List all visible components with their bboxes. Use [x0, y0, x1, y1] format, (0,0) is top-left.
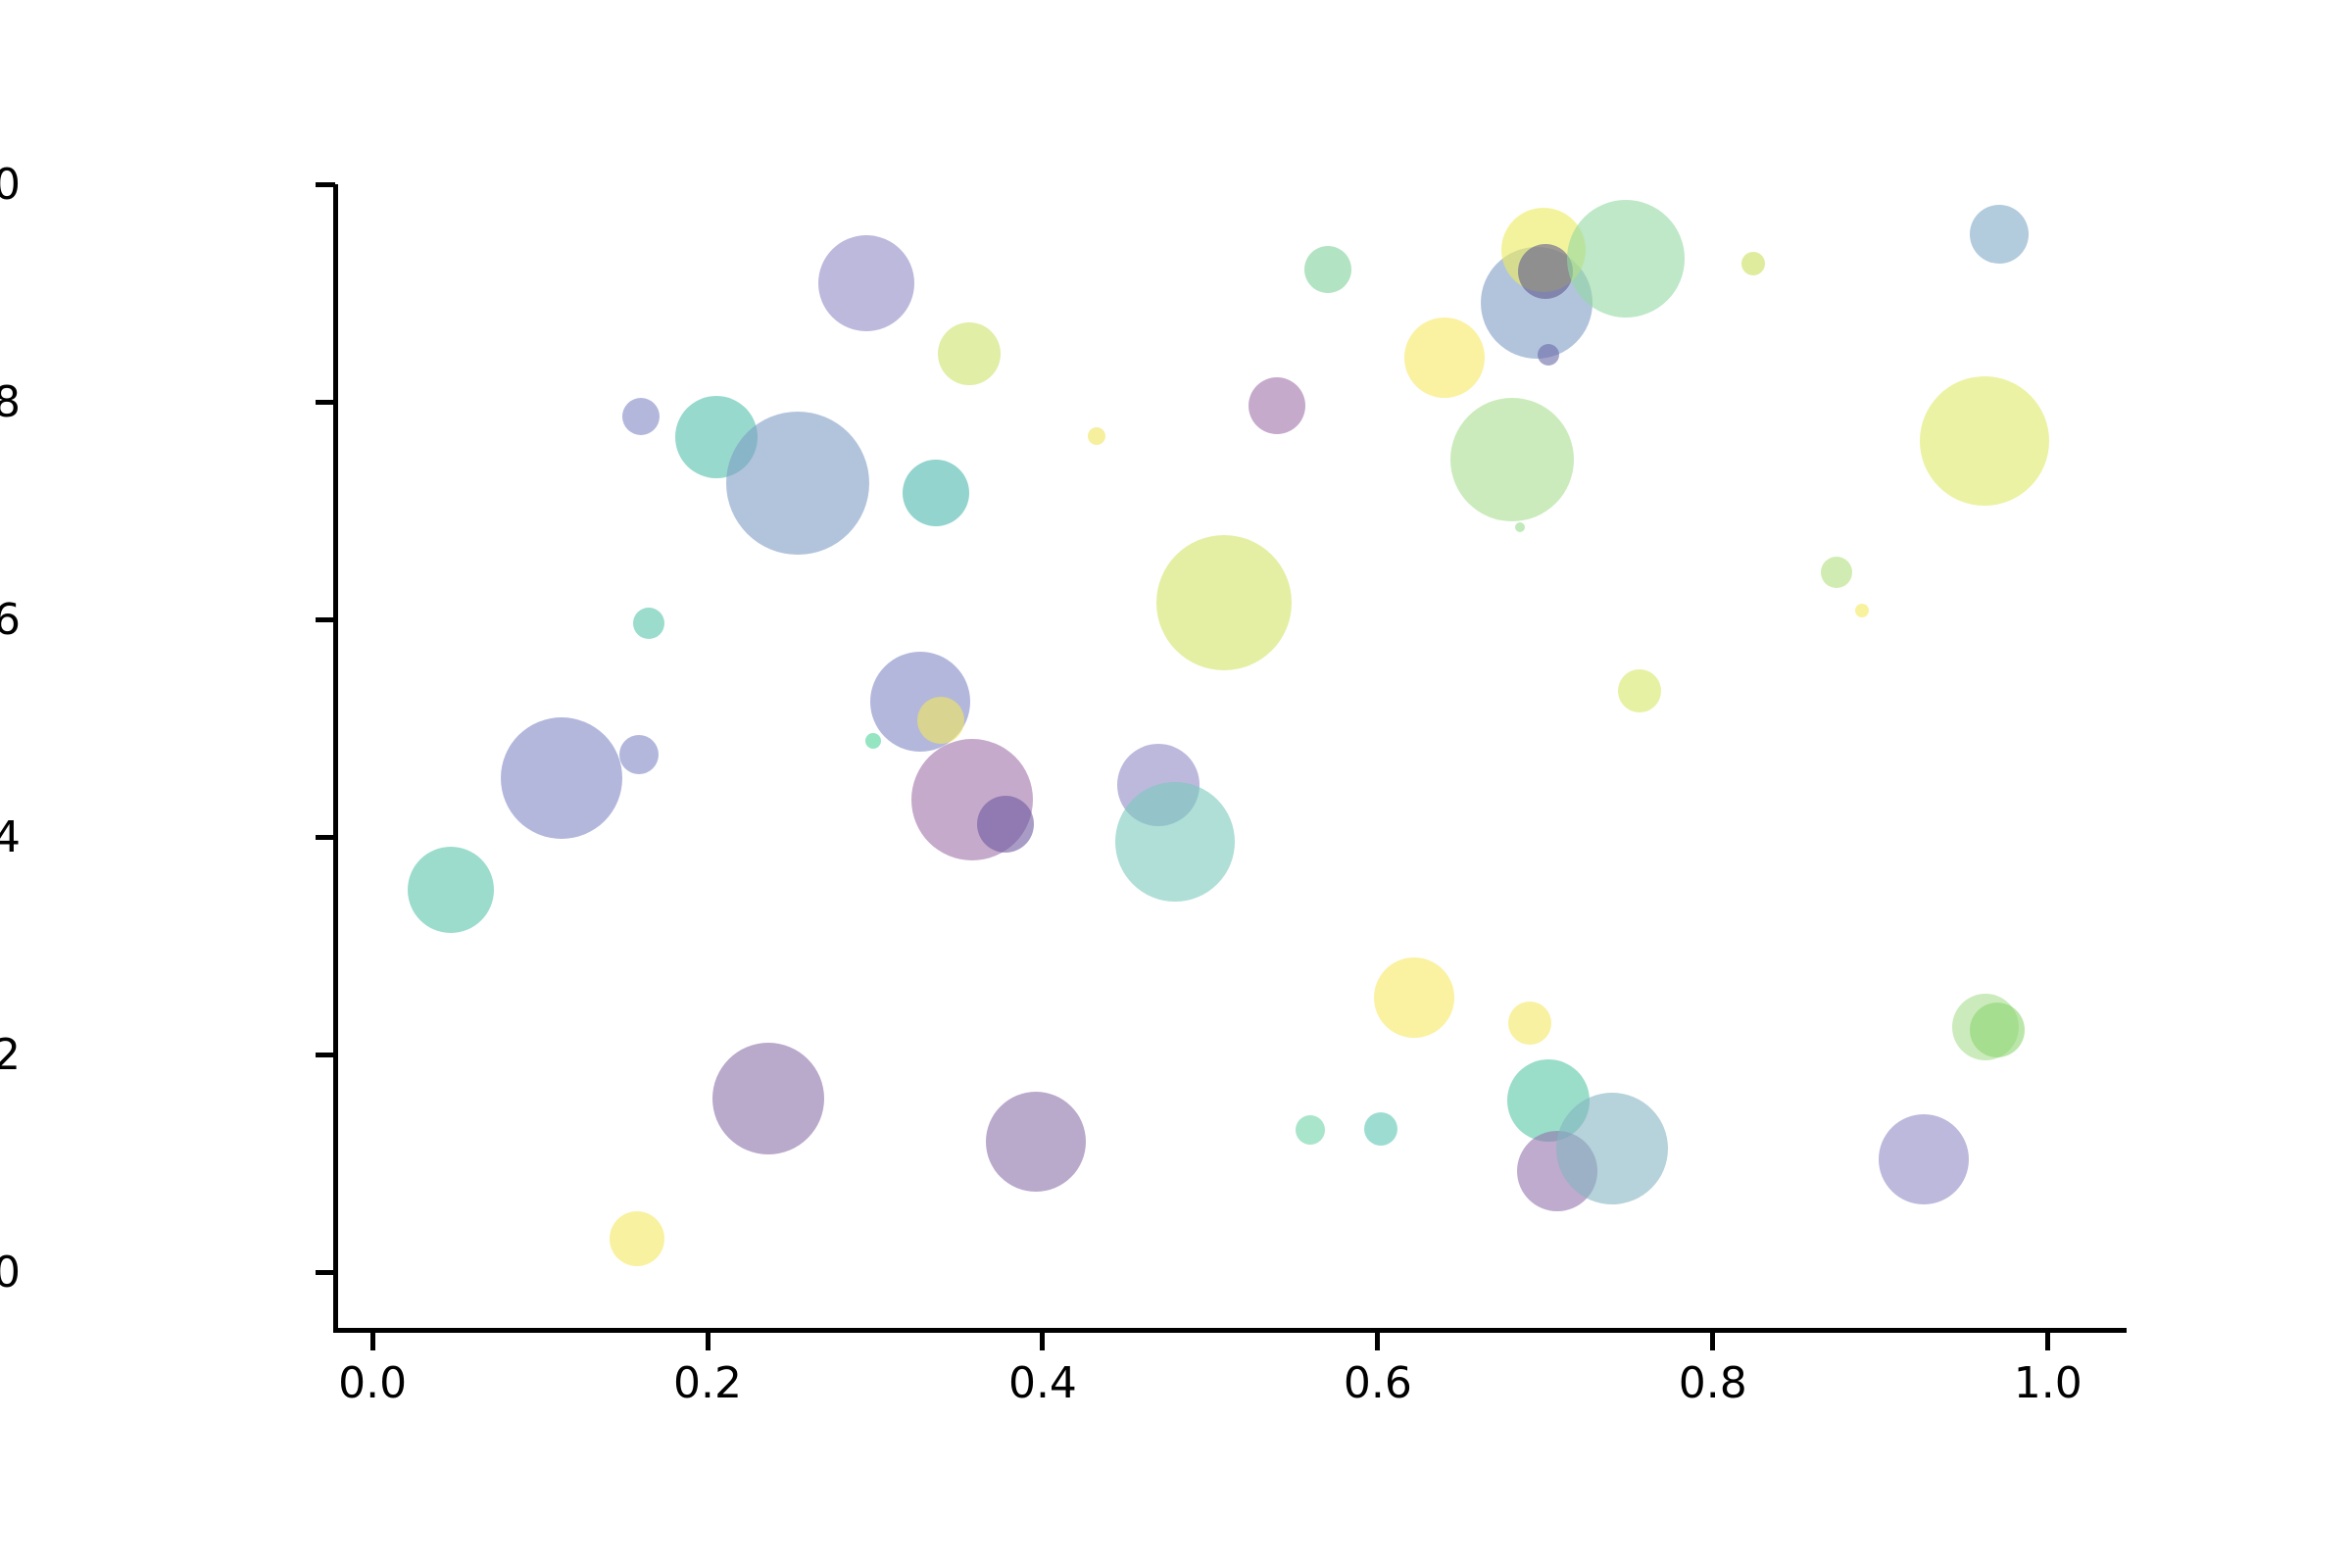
bubble-point: [1618, 669, 1661, 712]
y-tick-mark: [316, 835, 335, 840]
bubble-point: [1970, 1003, 2025, 1057]
bubble-point: [1855, 604, 1869, 617]
bubble-point: [1518, 244, 1573, 299]
bubble-point: [1304, 246, 1351, 293]
bubble-point: [1538, 344, 1559, 366]
bubble-point: [501, 717, 622, 839]
x-tick-mark: [1710, 1331, 1715, 1350]
y-tick-mark: [316, 1270, 335, 1275]
bubble-point: [1450, 398, 1574, 521]
bubble-series: [336, 184, 2118, 1328]
bubble-point: [1741, 252, 1765, 275]
x-tick-label: 0.2: [673, 1362, 742, 1405]
bubble-point: [865, 733, 881, 749]
bubble-point: [1364, 1112, 1397, 1146]
x-tick-label: 0.4: [1008, 1362, 1077, 1405]
x-tick-mark: [1375, 1331, 1380, 1350]
y-axis-spine: [333, 184, 338, 1333]
y-tick-mark: [316, 1053, 335, 1057]
bubble-point: [712, 1043, 824, 1154]
bubble-point: [938, 322, 1001, 385]
bubble-point: [1821, 557, 1852, 588]
x-tick-mark: [706, 1331, 710, 1350]
bubble-point: [1920, 376, 2049, 506]
bubble-point: [986, 1092, 1086, 1192]
y-tick-label: 0.4: [0, 816, 21, 859]
y-tick-label: 0.2: [0, 1034, 21, 1077]
plot-area: [336, 184, 2118, 1328]
x-tick-label: 0.8: [1679, 1362, 1747, 1405]
bubble-point: [977, 796, 1034, 853]
x-tick-label: 0.6: [1344, 1362, 1412, 1405]
y-tick-label: 1.0: [0, 164, 21, 207]
bubble-point: [917, 697, 964, 744]
bubble-point: [1970, 205, 2029, 264]
bubble-point: [1630, 191, 1736, 297]
bubble-point: [1115, 782, 1235, 902]
bubble-point: [619, 735, 659, 774]
bubble-point: [1508, 1002, 1551, 1045]
bubble-point: [408, 847, 494, 933]
y-tick-mark: [316, 617, 335, 622]
bubble-chart-figure: 0.00.20.40.60.81.0 0.00.20.40.60.81.0: [0, 0, 2352, 1568]
bubble-point: [1249, 377, 1305, 434]
x-tick-mark: [2045, 1331, 2050, 1350]
x-tick-label: 1.0: [2014, 1362, 2082, 1405]
bubble-point: [1879, 1114, 1969, 1204]
bubble-point: [610, 1211, 664, 1266]
bubble-point: [633, 608, 664, 639]
x-tick-label: 0.0: [338, 1362, 407, 1405]
x-tick-mark: [370, 1331, 375, 1350]
y-tick-label: 0.0: [0, 1251, 21, 1295]
y-tick-mark: [316, 400, 335, 405]
y-tick-label: 0.8: [0, 381, 21, 424]
bubble-point: [726, 412, 869, 555]
bubble-point: [1296, 1115, 1325, 1145]
x-axis-spine: [333, 1328, 2127, 1333]
bubble-point: [1515, 522, 1525, 532]
bubble-point: [1374, 957, 1454, 1038]
bubble-point: [1556, 1093, 1668, 1204]
bubble-point: [1404, 318, 1485, 398]
bubble-point: [1088, 427, 1105, 445]
bubble-point: [1156, 535, 1292, 670]
y-tick-mark: [316, 182, 335, 187]
bubble-point: [622, 398, 660, 435]
y-tick-label: 0.6: [0, 599, 21, 642]
bubble-point: [818, 235, 914, 331]
bubble-point: [903, 460, 969, 526]
x-tick-mark: [1040, 1331, 1045, 1350]
